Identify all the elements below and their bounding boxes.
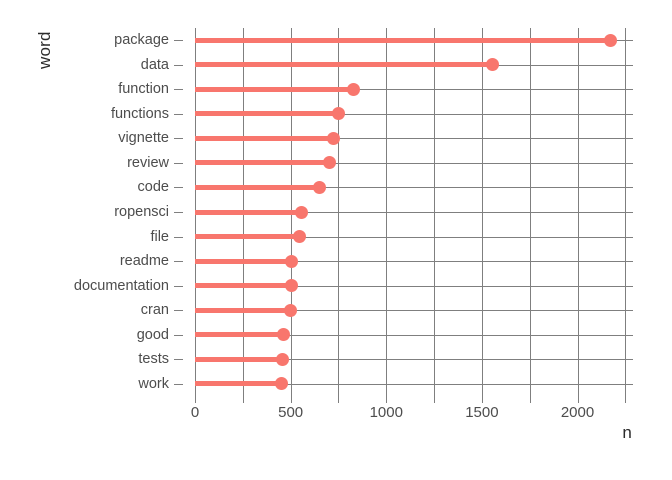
lollipop-point bbox=[486, 58, 499, 71]
lollipop-segment bbox=[195, 38, 610, 43]
lollipop-segment bbox=[195, 357, 283, 362]
x-axis-tick bbox=[530, 396, 531, 403]
x-axis-labels: 0500100015002000 bbox=[195, 404, 633, 424]
x-axis-tick-label: 1000 bbox=[370, 404, 403, 421]
y-axis-tick-label: functions bbox=[111, 107, 169, 122]
y-axis-tick bbox=[174, 187, 183, 188]
lollipop-point bbox=[275, 377, 288, 390]
y-axis-tick bbox=[174, 286, 183, 287]
x-axis-ticks bbox=[195, 396, 633, 403]
chart-root: word packagedatafunctionfunctionsvignett… bbox=[0, 0, 672, 480]
y-axis-tick bbox=[174, 89, 183, 90]
lollipop-point bbox=[295, 206, 308, 219]
y-axis-tick-label: work bbox=[138, 376, 169, 391]
lollipop-point bbox=[285, 279, 298, 292]
y-axis-tick-label: readme bbox=[120, 254, 169, 269]
lollipop-segment bbox=[195, 308, 291, 313]
plot-panel bbox=[195, 28, 633, 396]
y-axis-tick-label: good bbox=[137, 327, 169, 342]
lollipop-segment bbox=[195, 185, 319, 190]
y-axis-tick bbox=[174, 261, 183, 262]
lollipop-segment bbox=[195, 283, 292, 288]
y-axis-tick bbox=[174, 40, 183, 41]
lollipop-segment bbox=[195, 87, 354, 92]
x-axis-tick bbox=[291, 396, 292, 403]
x-axis-tick bbox=[482, 396, 483, 403]
y-axis-tick-label: data bbox=[141, 58, 169, 73]
y-axis-tick bbox=[174, 138, 183, 139]
x-axis-tick bbox=[434, 396, 435, 403]
x-axis-tick-label: 2000 bbox=[561, 404, 594, 421]
x-axis-tick-label: 500 bbox=[278, 404, 303, 421]
lollipop-point bbox=[284, 304, 297, 317]
lollipop-segment bbox=[195, 259, 292, 264]
y-axis-tick bbox=[174, 335, 183, 336]
y-axis-tick bbox=[174, 212, 183, 213]
lollipop-segment bbox=[195, 160, 330, 165]
y-axis-tick-label: tests bbox=[138, 352, 169, 367]
lollipop-segment bbox=[195, 136, 334, 141]
y-axis-labels: packagedatafunctionfunctionsvignetterevi… bbox=[0, 28, 183, 396]
lollipop-point bbox=[323, 156, 336, 169]
lollipop-segment bbox=[195, 332, 284, 337]
y-axis-tick bbox=[174, 237, 183, 238]
y-axis-tick-label: file bbox=[150, 229, 169, 244]
y-axis-tick-label: vignette bbox=[118, 131, 169, 146]
y-axis-tick-label: code bbox=[138, 180, 169, 195]
y-axis-tick bbox=[174, 65, 183, 66]
lollipop-point bbox=[313, 181, 326, 194]
x-axis-tick-label: 1500 bbox=[465, 404, 498, 421]
x-axis-tick bbox=[386, 396, 387, 403]
lollipop-point bbox=[285, 255, 298, 268]
x-axis-tick bbox=[578, 396, 579, 403]
lollipop-point bbox=[604, 34, 617, 47]
lollipop-point bbox=[332, 107, 345, 120]
lollipop-segment bbox=[195, 62, 492, 67]
lollipop-point bbox=[347, 83, 360, 96]
x-axis-tick bbox=[243, 396, 244, 403]
lollipop-segment bbox=[195, 381, 281, 386]
x-axis-tick bbox=[625, 396, 626, 403]
lollipop-point bbox=[293, 230, 306, 243]
y-axis-tick-label: function bbox=[118, 82, 169, 97]
y-axis-tick-label: package bbox=[114, 33, 169, 48]
x-axis-tick bbox=[195, 396, 196, 403]
y-axis-tick bbox=[174, 310, 183, 311]
y-axis-tick-label: review bbox=[127, 156, 169, 171]
y-axis-tick bbox=[174, 359, 183, 360]
y-axis-tick bbox=[174, 163, 183, 164]
lollipop-point bbox=[277, 328, 290, 341]
lollipop-segment bbox=[195, 210, 301, 215]
y-axis-tick bbox=[174, 114, 183, 115]
x-axis-title: n bbox=[0, 423, 632, 443]
y-axis-tick bbox=[174, 384, 183, 385]
lollipop-point bbox=[276, 353, 289, 366]
y-axis-tick-label: documentation bbox=[74, 278, 169, 293]
lollipop-segment bbox=[195, 234, 299, 239]
lollipop-point bbox=[327, 132, 340, 145]
x-axis-tick bbox=[338, 396, 339, 403]
x-axis-tick-label: 0 bbox=[191, 404, 199, 421]
y-axis-tick-label: ropensci bbox=[114, 205, 169, 220]
y-axis-tick-label: cran bbox=[141, 303, 169, 318]
lollipop-segment bbox=[195, 111, 338, 116]
